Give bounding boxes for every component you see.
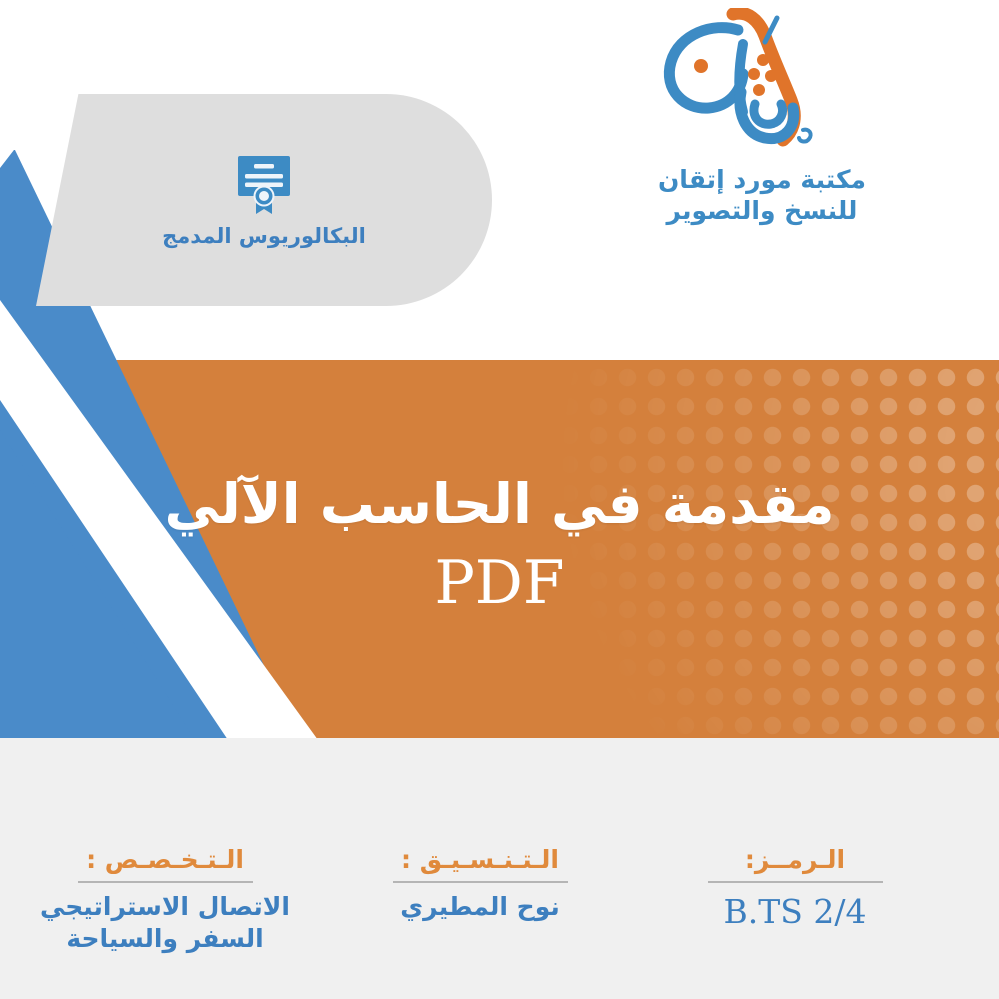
publisher-logo: مكتبة مورد إتقان للنسخ والتصوير — [617, 8, 907, 226]
course-title-block: مقدمة في الحاسب الآلي PDF — [0, 470, 999, 624]
badge-label: البكالوريوس المدمج — [162, 226, 366, 247]
coordination-value: نوح المطيري — [330, 891, 630, 923]
degree-badge[interactable]: البكالوريوس المدمج — [36, 94, 492, 306]
specialization-value-line-2: السفر والسياحة — [0, 923, 330, 955]
certificate-icon — [236, 154, 292, 216]
specialization-value-line-1: الاتصال الاستراتيجي — [0, 891, 330, 923]
specialization-label: الـتـخـصـص : — [0, 846, 330, 874]
logo-text-line-1: مكتبة مورد إتقان — [658, 165, 866, 196]
page-subtitle-format: PDF — [0, 543, 999, 624]
course-cover-page: البكالوريوس المدمج مكتبة مورد — [0, 0, 999, 999]
course-info-panel: الـتـخـصـص : الاتصال الاستراتيجي السفر و… — [0, 738, 999, 999]
coordination-label: الـتـنـسـيـق : — [330, 846, 630, 874]
code-divider — [708, 881, 883, 883]
code-value: B.TS 2/4 — [630, 891, 960, 933]
logo-text-line-2: للنسخ والتصوير — [658, 196, 866, 227]
code-label: الـرمــز: — [630, 846, 960, 874]
info-field-specialization: الـتـخـصـص : الاتصال الاستراتيجي السفر و… — [0, 846, 330, 955]
specialization-divider — [78, 881, 253, 883]
logo-text-block: مكتبة مورد إتقان للنسخ والتصوير — [658, 165, 866, 226]
info-field-code: الـرمــز: B.TS 2/4 — [630, 846, 960, 933]
itqan-calligraphy-logo-icon — [655, 8, 870, 163]
info-field-coordination: الـتـنـسـيـق : نوح المطيري — [330, 846, 630, 923]
coordination-divider — [393, 881, 568, 883]
page-title: مقدمة في الحاسب الآلي — [0, 470, 999, 539]
